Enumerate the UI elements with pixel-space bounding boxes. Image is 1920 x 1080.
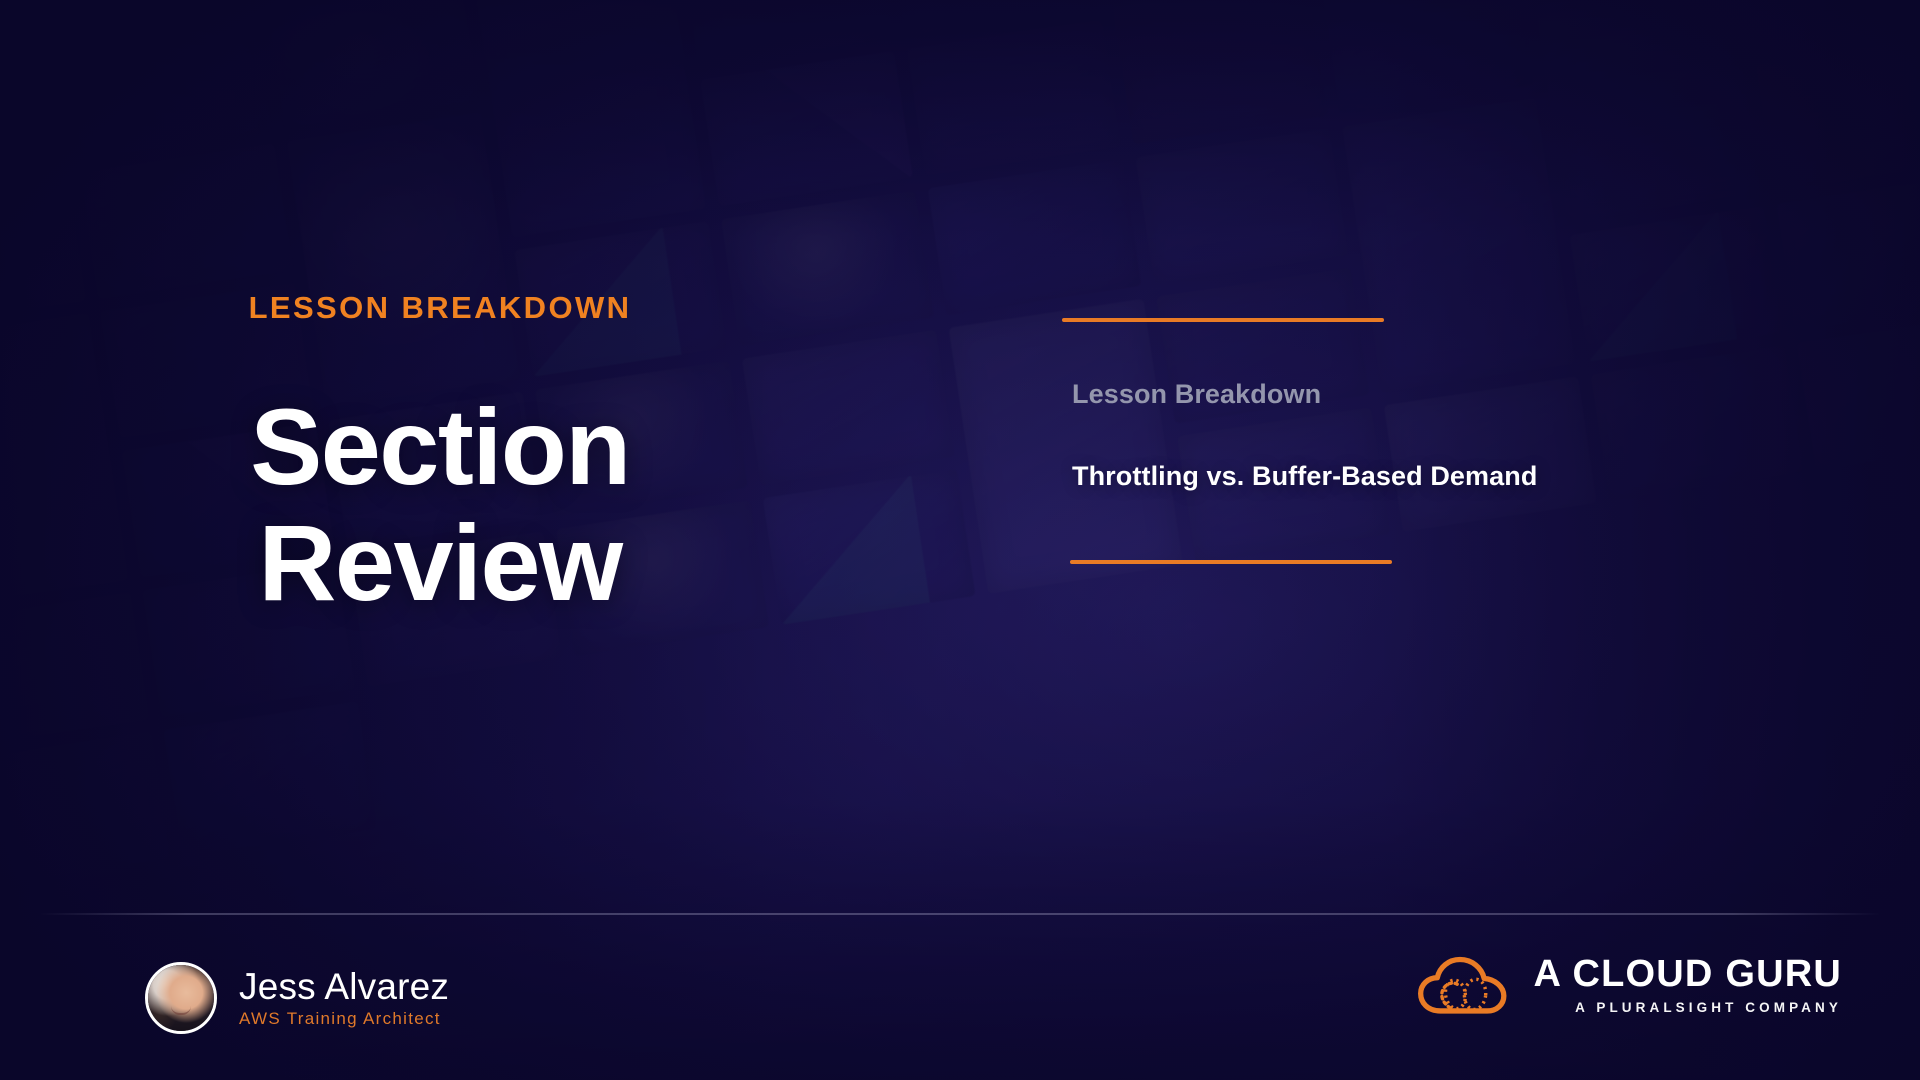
- agenda-item-completed[interactable]: Lesson Breakdown: [1072, 378, 1762, 410]
- presenter-text: Jess Alvarez AWS Training Architect: [239, 968, 449, 1029]
- slide-root: LESSON BREAKDOWN Section Review Lesson B…: [0, 0, 1920, 1080]
- agenda-list: Lesson Breakdown Throttling vs. Buffer-B…: [1062, 322, 1762, 548]
- brand-logo: A CLOUD GURU A PLURALSIGHT COMPANY: [1417, 955, 1842, 1017]
- lesson-agenda-panel: Lesson Breakdown Throttling vs. Buffer-B…: [1062, 318, 1762, 564]
- page-title: Section Review: [0, 389, 880, 620]
- brand-text: A CLOUD GURU A PLURALSIGHT COMPANY: [1533, 955, 1842, 1016]
- slide-eyebrow: LESSON BREAKDOWN: [0, 292, 880, 323]
- footer-divider: [40, 913, 1880, 915]
- agenda-rule-bottom-wrap: [1062, 560, 1762, 564]
- brand-name: A CLOUD GURU: [1533, 955, 1842, 995]
- agenda-rule-bottom: [1070, 560, 1392, 564]
- slide-heading-block: LESSON BREAKDOWN Section Review: [0, 292, 880, 620]
- presenter-block: Jess Alvarez AWS Training Architect: [145, 962, 449, 1034]
- page-title-line-1: Section: [250, 386, 630, 507]
- agenda-item-current[interactable]: Throttling vs. Buffer-Based Demand: [1072, 460, 1762, 492]
- avatar: [145, 962, 217, 1034]
- avatar-photo: [148, 965, 214, 1031]
- presenter-role: AWS Training Architect: [239, 1010, 449, 1029]
- cloud-icon: [1417, 955, 1509, 1017]
- presenter-name: Jess Alvarez: [239, 968, 449, 1007]
- slide-content: LESSON BREAKDOWN Section Review Lesson B…: [0, 0, 1920, 1080]
- brand-tagline: A PLURALSIGHT COMPANY: [1575, 1000, 1842, 1016]
- page-title-line-2: Review: [0, 505, 880, 621]
